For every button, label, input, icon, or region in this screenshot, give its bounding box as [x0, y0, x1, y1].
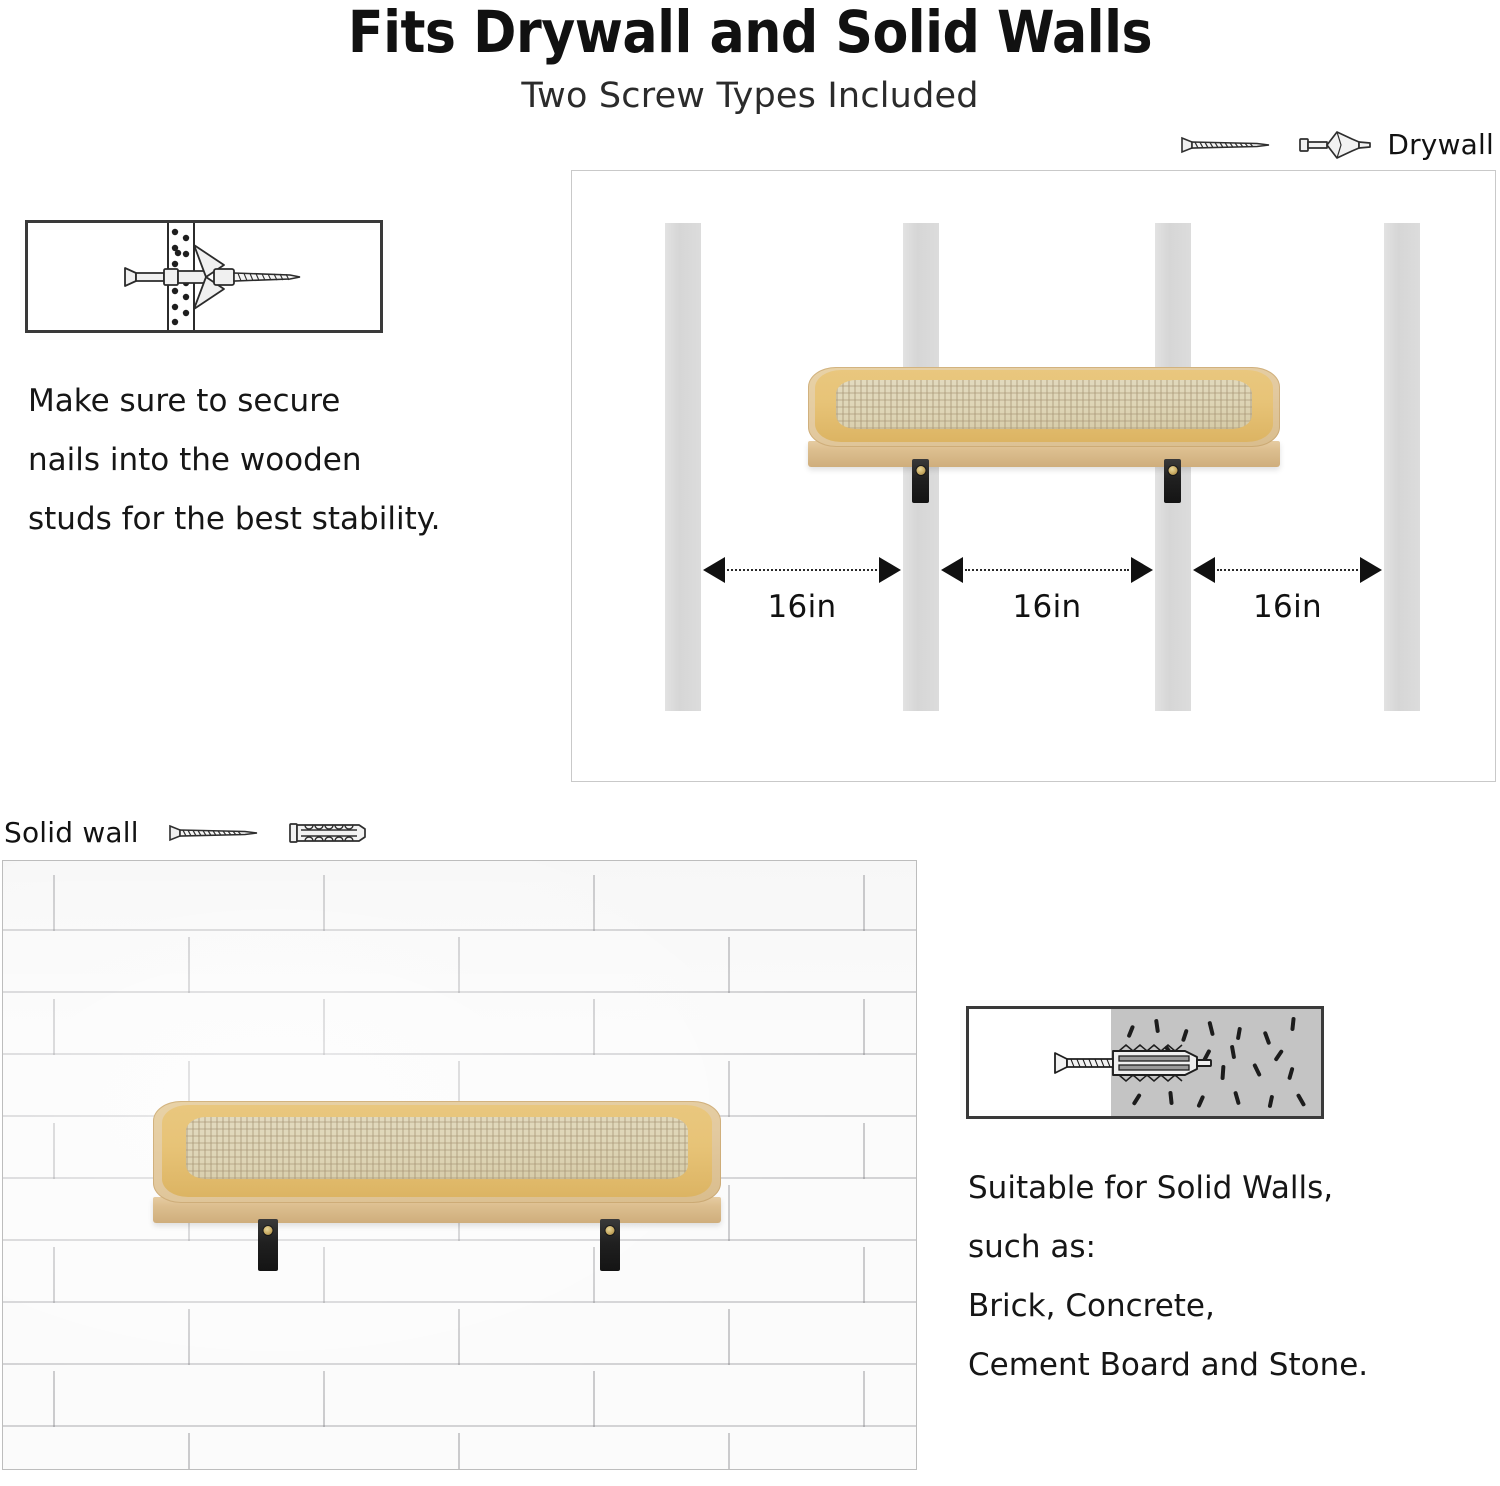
arrow-left-icon [1193, 557, 1215, 583]
molly-toggle-anchor-icon [1297, 129, 1373, 161]
solid-wall-instruction-text: Suitable for Solid Walls, such as: Brick… [968, 1173, 1368, 1409]
flat-head-screw-icon [167, 820, 263, 846]
solid-wall-plug-cross-section-diagram [966, 1006, 1324, 1119]
drywall-anchor-cross-section-diagram [25, 220, 383, 333]
shelf-top-face [808, 367, 1280, 447]
shelf-bracket [1164, 459, 1181, 503]
arrow-right-icon [1360, 557, 1382, 583]
arrow-right-icon [879, 557, 901, 583]
instruction-line: Suitable for Solid Walls, [968, 1173, 1368, 1204]
stud-spacing-arrow [703, 569, 901, 571]
stud-spacing-panel: 16in 16in 16in [571, 170, 1496, 782]
arrow-right-icon [1131, 557, 1153, 583]
plastic-wall-plug-icon [287, 819, 369, 847]
solid-wall-legend: Solid wall [4, 816, 369, 849]
shelf-bracket [258, 1219, 278, 1271]
instruction-line: Brick, Concrete, [968, 1291, 1368, 1322]
shelf-on-white-brick-wall-photo [2, 860, 917, 1470]
sisal-mat-border [815, 370, 1273, 442]
page-title: Fits Drywall and Solid Walls [0, 2, 1500, 63]
wall-mounted-cat-shelf [808, 367, 1280, 467]
dimension-line [965, 569, 1129, 571]
drywall-instruction-text: Make sure to secure nails into the woode… [28, 386, 441, 563]
stud-spacing-arrow [941, 569, 1153, 571]
stud-spacing-label: 16in [703, 589, 901, 625]
drywall-legend-label: Drywall [1387, 128, 1494, 161]
infographic-page: Fits Drywall and Solid Walls Two Screw T… [0, 0, 1500, 1486]
arrow-left-icon [941, 557, 963, 583]
instruction-line: Make sure to secure [28, 386, 441, 417]
page-subtitle: Two Screw Types Included [0, 76, 1500, 116]
dimension-line [727, 569, 877, 571]
stud-spacing-label: 16in [1193, 589, 1382, 625]
instruction-line: Cement Board and Stone. [968, 1350, 1368, 1381]
flat-head-screw-icon [1179, 132, 1275, 158]
sisal-mat-weave [186, 1117, 687, 1179]
shelf-bracket [600, 1219, 620, 1271]
wall-stud [665, 223, 701, 711]
arrow-left-icon [703, 557, 725, 583]
sisal-mat-weave [836, 380, 1253, 429]
wall-mounted-cat-shelf [153, 1101, 721, 1223]
solid-wall-legend-label: Solid wall [4, 816, 139, 849]
shelf-bracket [912, 459, 929, 503]
instruction-line: such as: [968, 1232, 1368, 1263]
instruction-line: studs for the best stability. [28, 504, 441, 535]
stud-spacing-label: 16in [941, 589, 1153, 625]
drywall-legend: Drywall [1179, 128, 1494, 161]
sisal-mat-border [162, 1105, 713, 1197]
instruction-line: nails into the wooden [28, 445, 441, 476]
stud-spacing-arrow [1193, 569, 1382, 571]
wall-stud [1384, 223, 1420, 711]
shelf-top-face [153, 1101, 721, 1203]
dimension-line [1217, 569, 1358, 571]
